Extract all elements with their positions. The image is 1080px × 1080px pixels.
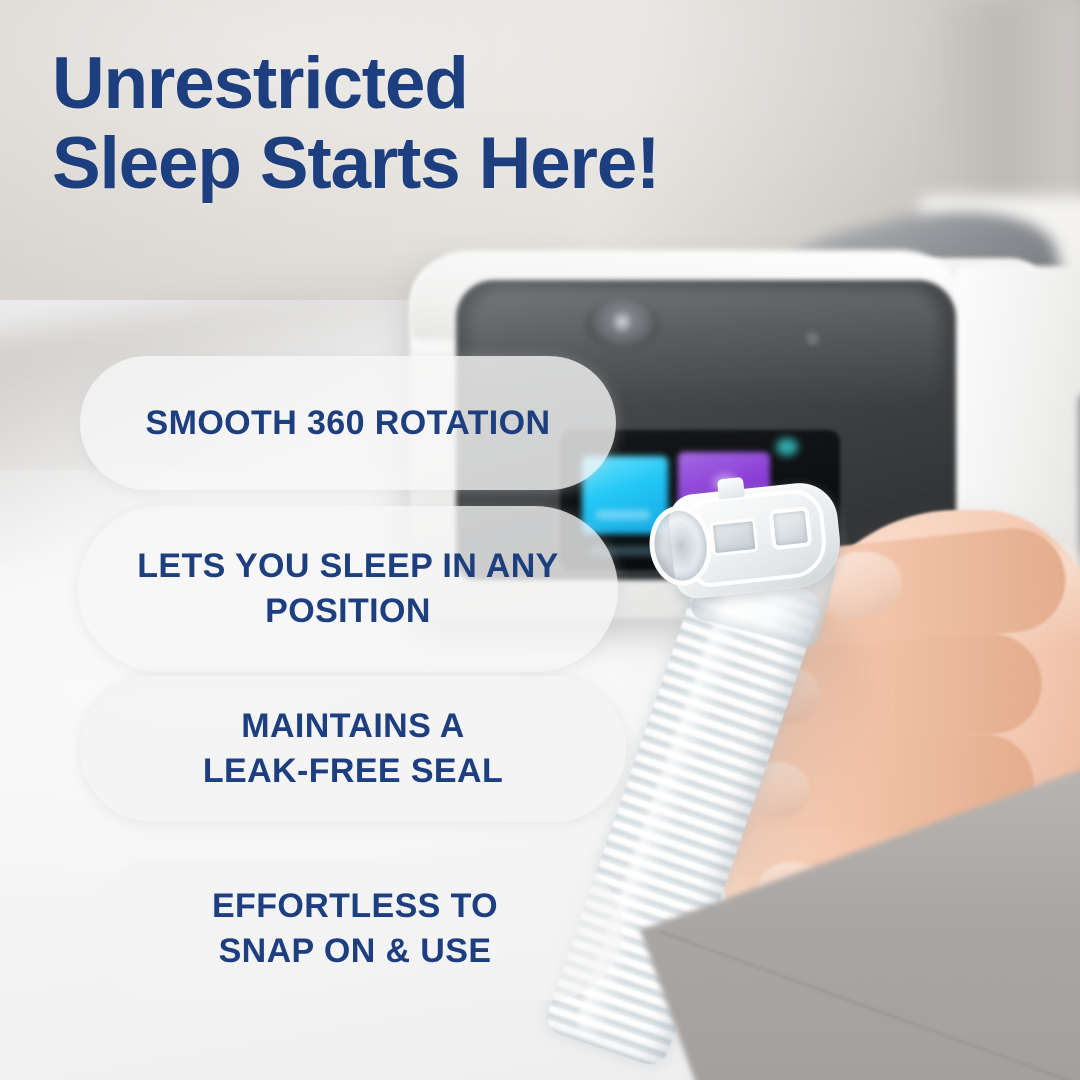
sensor-dot-icon <box>806 332 819 345</box>
feature-pill-smooth-360-rotation: SMOOTH 360 ROTATION <box>80 356 616 490</box>
display-teal-dot-icon <box>776 438 798 456</box>
feature-pill-effortless-snap-on-use: EFFORTLESS TO SNAP ON & USE <box>88 858 622 1000</box>
page-title: Unrestricted Sleep Starts Here! <box>52 44 659 204</box>
elbow-square-port <box>768 506 812 550</box>
promo-graphic: Unrestricted Sleep Starts Here! SMOOTH 3… <box>0 0 1080 1080</box>
elbow-release-tab <box>717 477 745 500</box>
feature-pill-maintains-leak-free-seal: MAINTAINS A LEAK-FREE SEAL <box>80 676 626 822</box>
power-symbol-icon <box>613 310 631 334</box>
swivel-elbow-connector <box>644 469 866 620</box>
elbow-slot <box>709 518 758 557</box>
feature-pill-lets-you-sleep-any-position: LETS YOU SLEEP IN ANY POSITION <box>78 506 618 672</box>
